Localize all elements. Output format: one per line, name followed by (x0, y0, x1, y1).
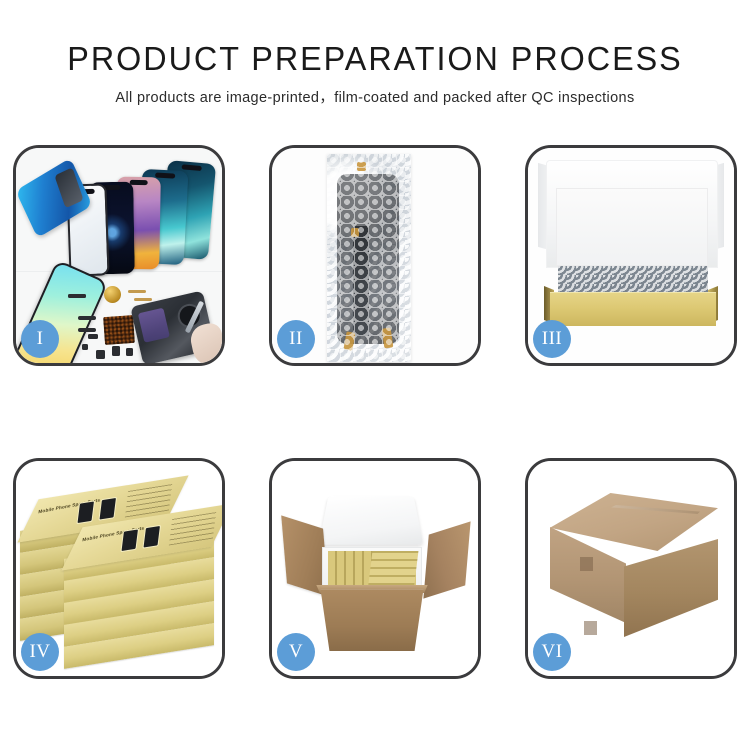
spare-part-icon (96, 350, 105, 359)
spare-part-icon (126, 348, 133, 356)
spare-part-icon (68, 294, 86, 298)
phone-notch-icon (181, 164, 202, 171)
tape-icon (344, 331, 356, 350)
spare-part-icon (112, 346, 120, 356)
spare-part-icon (88, 334, 98, 339)
box-artwork-swatch (98, 497, 117, 521)
step-badge: III (533, 320, 571, 358)
step-badge: II (277, 320, 315, 358)
step-badge: I (21, 320, 59, 358)
step-badge: VI (533, 633, 571, 671)
styrofoam-lid-icon (319, 496, 424, 545)
foam-sheet-icon (556, 188, 708, 266)
box-artwork-swatch (142, 525, 161, 549)
product-preparation-infographic: PRODUCT PREPARATION PROCESS All products… (0, 0, 750, 750)
bubble-wrap-bag-icon (327, 154, 411, 362)
process-step-5[interactable]: V (269, 458, 481, 679)
step-badge: IV (21, 633, 59, 671)
phone-notch-icon (155, 173, 175, 179)
spare-part-icon (78, 316, 96, 320)
bubble-padding-icon (558, 266, 708, 294)
kraft-box-front-icon (550, 292, 716, 326)
process-step-4[interactable]: Mobile Phone Spare Parts Mobile Phone Sp… (13, 458, 225, 679)
chip-array-icon (103, 315, 135, 345)
step-badge: V (277, 633, 315, 671)
page-title: PRODUCT PREPARATION PROCESS (8, 0, 743, 78)
tape-icon (351, 228, 359, 237)
box-artwork-swatch (120, 528, 139, 552)
header: PRODUCT PREPARATION PROCESS All products… (0, 0, 750, 107)
process-step-6[interactable]: VI (525, 458, 737, 679)
box-spec-text-block (169, 512, 216, 545)
tape-icon (357, 162, 366, 171)
tape-icon (584, 621, 597, 635)
carton-body-icon (316, 589, 428, 651)
process-step-3[interactable]: III (525, 145, 737, 366)
spare-part-icon (82, 344, 88, 350)
process-step-1[interactable]: I (13, 145, 225, 366)
spare-part-icon (78, 328, 96, 332)
phone-notch-icon (129, 180, 148, 185)
spare-part-icon (128, 290, 146, 293)
process-step-2[interactable]: II (269, 145, 481, 366)
box-artwork-swatch (76, 500, 95, 524)
spare-part-icon (134, 298, 152, 301)
vibration-motor-icon (104, 286, 121, 303)
flex-cable-icon (353, 226, 369, 336)
tape-icon (580, 557, 593, 571)
process-step-grid: I II (13, 145, 737, 679)
box-spec-text-block (125, 484, 172, 517)
page-subtitle: All products are image-printed，film-coat… (0, 78, 750, 107)
